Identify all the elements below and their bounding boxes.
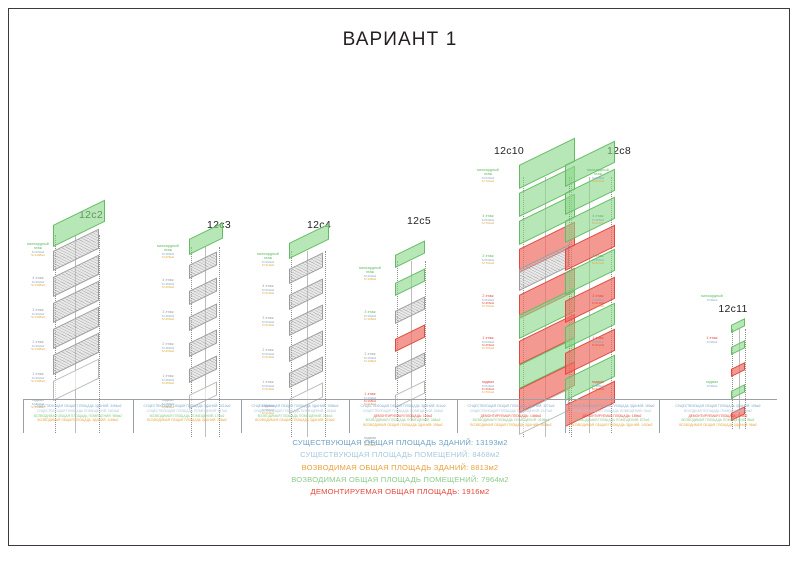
footer-line: ВОЗВОДИМАЯ ОБЩАЯ ПЛОЩАДЬ ЗДАНИЙ: 3506м2 <box>457 423 565 428</box>
floor-annotation: мансардныйэтажS=180м2S=206м2 <box>145 245 191 259</box>
footer-cell-12c8: СУЩЕСТВУЮЩАЯ ОБЩАЯ ПЛОЩАДЬ ЗДАНИЙ: 189м2… <box>565 402 659 432</box>
footer-line: СУЩЕСТВУЮЩАЯ ПЛОЩАДЬ ПОМЕЩЕНИЙ: 2147м2 <box>457 409 565 414</box>
floor-annotation: 1 этажS=180м2S=206м2 <box>145 375 191 385</box>
footer-separator <box>23 399 24 433</box>
floor-area-existing: S=96м2 <box>689 385 735 388</box>
floor-annotation: 4 этажS=388м2S=417м2 <box>575 215 621 225</box>
drawing-sheet: ВАРИАНТ 1 12c2мансардныйэтажS=402м2S=116… <box>0 0 800 565</box>
sheet-frame: ВАРИАНТ 1 12c2мансардныйэтажS=402м2S=116… <box>8 8 790 546</box>
floor-area-value: S=310м2 <box>245 356 291 359</box>
floor-slab-gry <box>189 369 217 383</box>
floor-annotation: 2 этажS=264м2S=310м2 <box>245 349 291 359</box>
floor-annotation: 1 этажS=96м2 <box>689 337 735 344</box>
buildings-stage: 12c2мансардныйэтажS=402м2S=1168м24 этажS… <box>9 57 791 397</box>
footer-separator <box>659 399 660 433</box>
floor-slab-grn <box>289 243 329 259</box>
floor-annotation: 4 этажS=402м2S=1168м2 <box>15 277 61 287</box>
floor-area-value: S=701м2 <box>465 180 511 183</box>
floor-area-value: S=1168м2 <box>15 254 61 257</box>
floor-slab-gry <box>395 367 425 380</box>
floor-area-new: S=701м2 <box>465 305 511 308</box>
floor-annotation: мансардныйэтажS=264м2S=310м2 <box>245 253 291 267</box>
footer-line: ВОЗВОДИМАЯ ОБЩАЯ ПЛОЩАДЬ ЗДАНИЙ: 310м2 <box>241 418 349 423</box>
floor-annotation: 2 этажS=640м2S=466м2S=701м2 <box>465 295 511 308</box>
floor-annotation: 1 этажS=640м2S=466м2S=701м2 <box>465 337 511 350</box>
floor-area-value: S=417м2 <box>575 222 621 225</box>
floor-annotation: 2 этажS=180м2S=206м2 <box>145 343 191 353</box>
floor-annotation: 3 этажS=264м2S=310м2 <box>245 317 291 327</box>
footer-band: СУЩЕСТВУЮЩАЯ ОБЩАЯ ПЛОЩАДЬ ЗДАНИЙ: 3494м… <box>9 399 791 433</box>
floor-annotation: подвалS=388м2S=312м2S=417м2 <box>575 381 621 394</box>
building-label-12c11: 12c11 <box>709 303 757 315</box>
footer-separator <box>241 399 242 433</box>
footer-cell-12c11: СУЩЕСТВУЮЩАЯ ОБЩАЯ ПЛОЩАДЬ ЗДАНИЙ: 196м2… <box>659 402 777 432</box>
floor-area-value: S=1168м2 <box>15 316 61 319</box>
floor-area-existing: S=96м2 <box>689 341 735 344</box>
floor-area-value: S=206м2 <box>145 256 191 259</box>
floor-area-value: S=1168м2 <box>15 284 61 287</box>
floor-annotation: 2 этажS=402м2S=1168м2 <box>15 341 61 351</box>
floor-annotation: 4 этажS=180м2S=206м2 <box>145 279 191 289</box>
totals-summary: СУЩЕСТВУЮЩАЯ ОБЩАЯ ПЛОЩАДЬ ЗДАНИЙ: 13193… <box>9 437 791 498</box>
total-existing-rooms: СУЩЕСТВУЮЩАЯ ПЛОЩАДЬ ПОМЕЩЕНИЙ: 8468м2 <box>9 449 791 461</box>
footer-separator <box>349 399 350 433</box>
floor-area-value: S=198м2 <box>347 318 393 321</box>
floor-slab-red <box>731 369 745 377</box>
footer-cell-12c2: СУЩЕСТВУЮЩАЯ ОБЩАЯ ПЛОЩАДЬ ЗДАНИЙ: 3494м… <box>23 402 133 432</box>
floor-annotation: 2 этажS=388м2S=312м2S=417м2 <box>575 295 621 308</box>
floor-annotation: мансардныйS=96м2 <box>689 295 735 302</box>
footer-cell-12c5: СУЩЕСТВУЮЩАЯ ОБЩАЯ ПЛОЩАДЬ ЗДАНИЙ: 511м2… <box>349 402 457 432</box>
floor-slab-wht <box>53 381 99 401</box>
floor-annotation: 2 этажS=190м2S=198м2 <box>347 353 393 363</box>
floor-annotation: мансардныйэтажS=402м2S=1168м2 <box>15 243 61 257</box>
floor-area-new: S=417м2 <box>575 391 621 394</box>
footer-cell-12c3: СУЩЕСТВУЮЩАЯ ОБЩАЯ ПЛОЩАДЬ ЗДАНИЙ: 1012м… <box>133 402 241 432</box>
floor-area-value: S=701м2 <box>465 262 511 265</box>
floor-annotation: 3 этажS=388м2S=417м2 <box>575 255 621 265</box>
floor-area-value: S=198м2 <box>347 360 393 363</box>
floor-area-value: S=198м2 <box>347 278 393 281</box>
floor-annotation: 1 этажS=264м2S=310м2 <box>245 381 291 391</box>
footer-cell-12c10: СУЩЕСТВУЮЩАЯ ОБЩАЯ ПЛОЩАДЬ ЗДАНИЙ: 3271м… <box>457 402 565 432</box>
floor-annotation: подвалS=640м2S=466м2S=701м2 <box>465 381 511 394</box>
page-title: ВАРИАНТ 1 <box>9 29 791 51</box>
structural-column <box>425 261 426 421</box>
floor-slab-grn <box>731 325 745 333</box>
floor-slab-red <box>395 339 425 352</box>
floor-annotation: подвалS=96м2 <box>689 381 735 388</box>
footer-separator <box>457 399 458 433</box>
floor-annotation: 3 этажS=180м2S=206м2 <box>145 311 191 321</box>
floor-slab-grn <box>395 283 425 296</box>
floor-slab-gry <box>189 343 217 357</box>
floor-area-value: S=310м2 <box>245 388 291 391</box>
floor-area-value: S=206м2 <box>145 318 191 321</box>
footer-line: СУЩЕСТВУЮЩАЯ ПЛОЩАДЬ ПОМЕЩЕНИЙ: 647м2 <box>133 409 241 414</box>
floor-slab-gry <box>189 317 217 331</box>
footer-line: СУЩЕСТВУЮЩАЯ ПЛОЩАДЬ ПОМЕЩЕНИЙ: 91м2 <box>565 409 659 414</box>
floor-annotation: 4 этажS=264м2S=310м2 <box>245 285 291 295</box>
floor-annotation: 1 этажS=402м2S=1168м2 <box>15 373 61 383</box>
footer-line: ВОЗВОДИМАЯ ОБЩАЯ ПЛОЩАДЬ ЗДАНИЙ: 396м2 <box>349 423 457 428</box>
floor-area-value: S=1168м2 <box>15 348 61 351</box>
floor-annotation: 3 этажS=190м2S=198м2 <box>347 311 393 321</box>
footer-line: ВОЗВОДИМАЯ ОБЩАЯ ПЛОЩАДЬ ЗДАНИЙ: 96м2 <box>659 423 777 428</box>
floor-slab-gry <box>189 291 217 305</box>
floor-area-new: S=701м2 <box>465 347 511 350</box>
floor-area-value: S=206м2 <box>145 350 191 353</box>
floor-slab-grn <box>395 255 425 268</box>
floor-annotation: мансардныйэтажS=388м2S=417м2 <box>575 169 621 183</box>
floor-slab-gry <box>395 311 425 324</box>
floor-area-value: S=206м2 <box>145 382 191 385</box>
footer-line: СУЩЕСТВУЮЩАЯ ПЛОЩАДЬ ПОМЕЩЕНИЙ: 1043м2 <box>241 409 349 414</box>
footer-separator <box>565 399 566 433</box>
total-new-buildings: ВОЗВОДИМАЯ ОБЩАЯ ПЛОЩАДЬ ЗДАНИЙ: 8813м2 <box>9 462 791 474</box>
footer-line: СУЩЕСТВУЮЩАЯ ПЛОЩАДЬ ПОМЕЩЕНИЙ: 294м2 <box>349 409 457 414</box>
floor-area-value: S=310м2 <box>245 292 291 295</box>
floor-area-value: S=701м2 <box>465 222 511 225</box>
floor-annotation: 3 этажS=640м2S=701м2 <box>465 255 511 265</box>
floor-area-value: S=417м2 <box>575 180 621 183</box>
footer-rule <box>23 399 777 400</box>
footer-line: СУЩЕСТВУЮЩАЯ ПЛОЩАДЬ ПОМЕЩЕНИЙ: 2404м2 <box>23 409 133 414</box>
floor-area-new: S=701м2 <box>465 391 511 394</box>
footer-separator <box>133 399 134 433</box>
total-demolished: ДЕМОНТИРУЕМАЯ ОБЩАЯ ПЛОЩАДЬ: 1916м2 <box>9 486 791 498</box>
total-existing-buildings: СУЩЕСТВУЮЩАЯ ОБЩАЯ ПЛОЩАДЬ ЗДАНИЙ: 13193… <box>9 437 791 449</box>
footer-line: ВОЗВОДИМАЯ ОБЩАЯ ПЛОЩАДЬ ЗДАНИЙ: 1168м2 <box>23 418 133 423</box>
floor-slab-grn <box>189 239 223 255</box>
floor-area-value: S=206м2 <box>145 286 191 289</box>
total-new-rooms: ВОЗВОДИМАЯ ОБЩАЯ ПЛОЩАДЬ ПОМЕЩЕНИЙ: 7964… <box>9 474 791 486</box>
floor-annotation: мансардныйэтажS=640м2S=701м2 <box>465 169 511 183</box>
floor-area-value: S=417м2 <box>575 262 621 265</box>
building-label-12c5: 12c5 <box>395 215 443 227</box>
floor-slab-grn <box>731 391 745 399</box>
floor-area-existing: S=96м2 <box>689 299 735 302</box>
footer-line: ВОЗВОДИМАЯ ОБЩАЯ ПЛОЩАДЬ ЗДАНИЙ: 206м2 <box>133 418 241 423</box>
floor-annotation: 3 этажS=402м2S=1168м2 <box>15 309 61 319</box>
floor-annotation: 1 этажS=388м2S=312м2S=417м2 <box>575 337 621 350</box>
footer-cell-12c4: СУЩЕСТВУЮЩАЯ ОБЩАЯ ПЛОЩАДЬ ЗДАНИЙ: 1556м… <box>241 402 349 432</box>
footer-line: ВОЗВОДИМАЯ ОБЩАЯ ПЛОЩАДЬ ЗДАНИЙ: 1400м2 <box>565 423 659 428</box>
floor-area-new: S=417м2 <box>575 347 621 350</box>
floor-area-value: S=310м2 <box>245 324 291 327</box>
floor-slab-grn <box>731 347 745 355</box>
floor-slab-gry <box>189 265 217 279</box>
floor-annotation: 4 этажS=640м2S=701м2 <box>465 215 511 225</box>
floor-area-value: S=310м2 <box>245 264 291 267</box>
building-label-12c10: 12c10 <box>485 145 533 157</box>
floor-area-new: S=417м2 <box>575 305 621 308</box>
floor-area-value: S=1168м2 <box>15 380 61 383</box>
floor-annotation: мансардныйэтажS=190м2S=198м2 <box>347 267 393 281</box>
